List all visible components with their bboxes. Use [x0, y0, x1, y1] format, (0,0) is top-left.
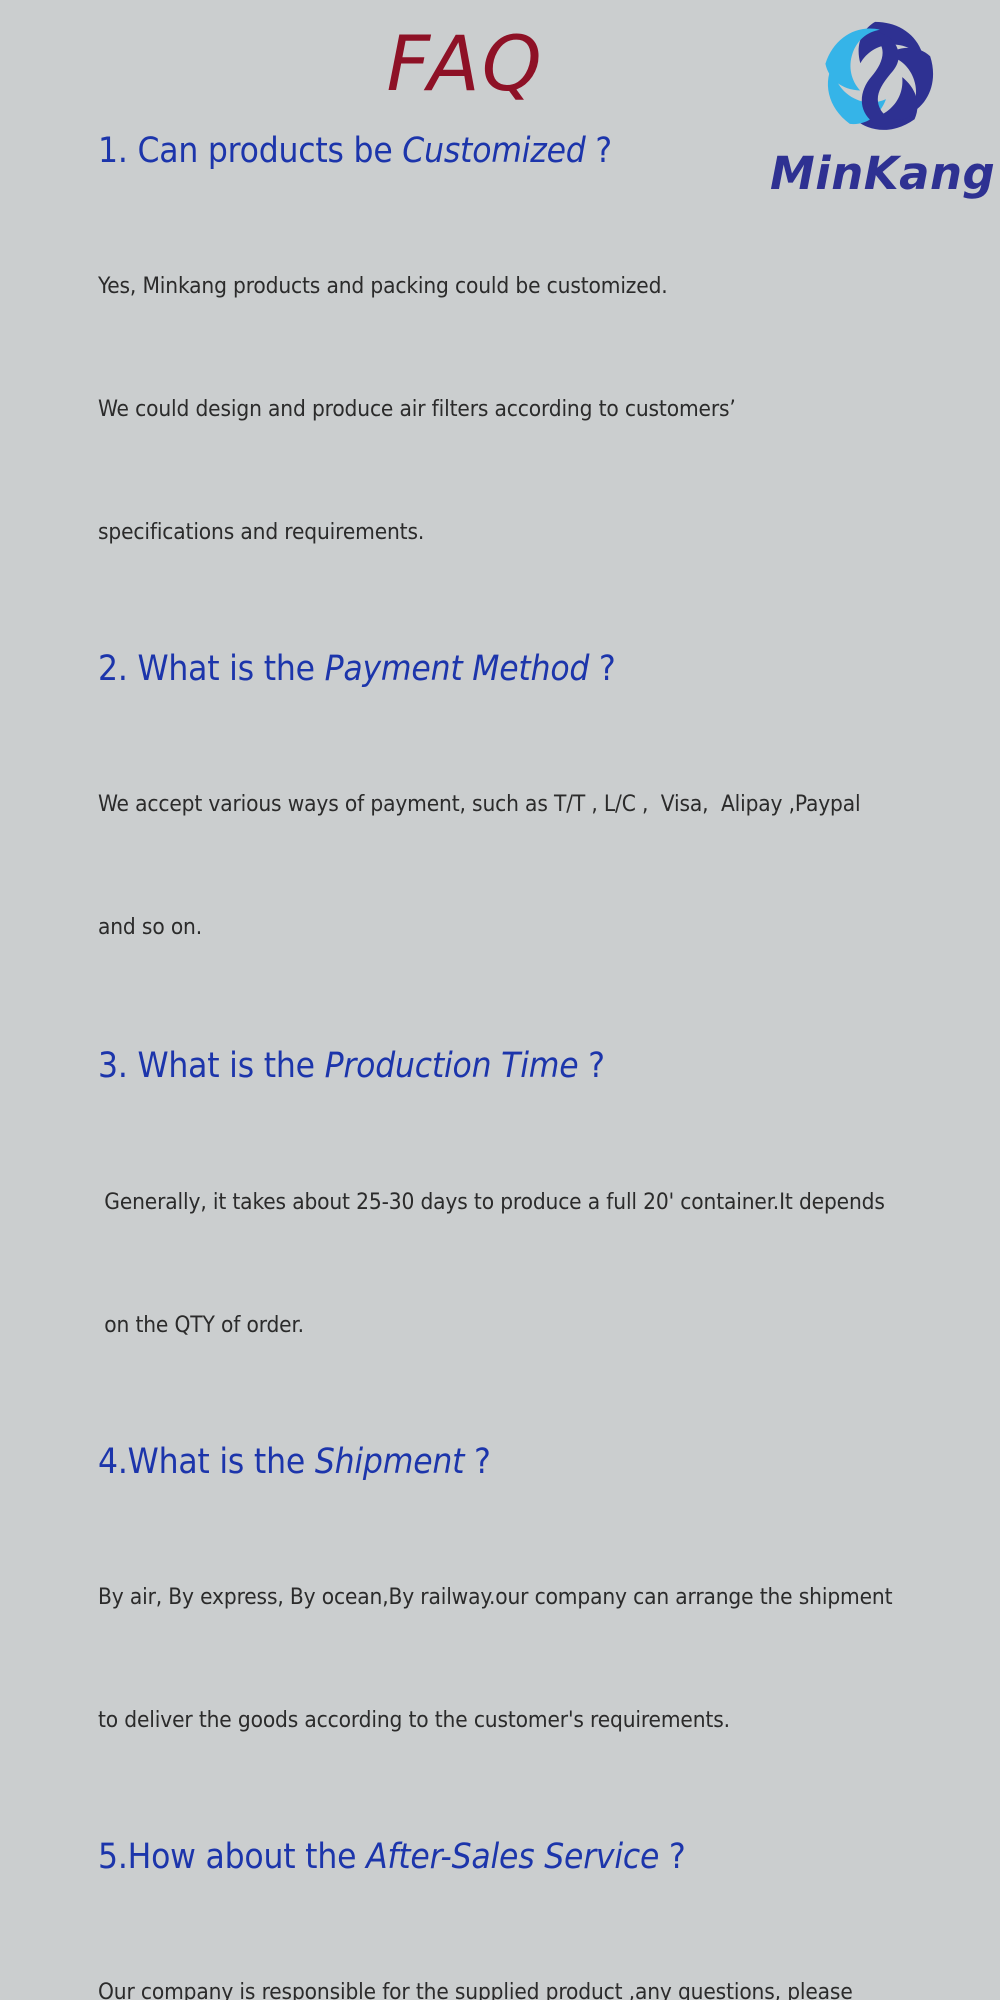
faq-item-2: 2. What is the Payment Method ? We accep… [98, 650, 982, 1030]
faq-question-5-number: 5. [98, 1837, 128, 1877]
faq-question-5: 5.How about the After-Sales Service ? [98, 1838, 982, 1877]
faq-answer-5: Our company is responsible for the suppl… [98, 1890, 982, 2000]
faq-answer-2-line-2: and so on. [98, 907, 982, 948]
faq-answer-1: Yes, Minkang products and packing could … [98, 184, 982, 635]
faq-question-2-lead: What is the [137, 649, 324, 689]
faq-question-2-emphasis: Payment Method [325, 649, 590, 689]
faq-answer-3: Generally, it takes about 25-30 days to … [98, 1100, 982, 1428]
faq-answer-1-line-1: Yes, Minkang products and packing could … [98, 266, 982, 307]
faq-question-3-tail: ? [578, 1046, 604, 1086]
faq-question-4-number: 4. [98, 1442, 128, 1482]
faq-question-5-lead: How about the [128, 1837, 366, 1877]
faq-question-3-lead: What is the [137, 1046, 324, 1086]
faq-answer-4-line-1: By air, By express, By ocean,By railway.… [98, 1577, 982, 1618]
faq-question-4-tail: ? [464, 1442, 490, 1482]
faq-question-5-emphasis: After-Sales Service [366, 1837, 659, 1877]
faq-list: 1. Can products be Customized ? Yes, Min… [98, 132, 982, 2000]
faq-answer-4-line-2: to deliver the goods according to the cu… [98, 1700, 982, 1741]
faq-answer-1-line-2: We could design and produce air filters … [98, 389, 982, 430]
faq-answer-2-line-1: We accept various ways of payment, such … [98, 784, 982, 825]
faq-question-1: 1. Can products be Customized ? [98, 132, 982, 171]
faq-item-3: 3. What is the Production Time ? General… [98, 1047, 982, 1427]
faq-answer-5-line-1: Our company is responsible for the suppl… [98, 1972, 982, 2000]
faq-question-2-number: 2. [98, 649, 137, 689]
faq-question-4: 4.What is the Shipment ? [98, 1443, 982, 1482]
faq-answer-1-line-3: specifications and requirements. [98, 512, 982, 553]
faq-answer-3-line-1: Generally, it takes about 25-30 days to … [98, 1182, 982, 1223]
faq-question-4-lead: What is the [128, 1442, 315, 1482]
faq-question-3: 3. What is the Production Time ? [98, 1047, 982, 1086]
faq-answer-2: We accept various ways of payment, such … [98, 702, 982, 1030]
faq-question-4-emphasis: Shipment [315, 1442, 464, 1482]
faq-question-3-emphasis: Production Time [325, 1046, 579, 1086]
faq-question-1-tail: ? [586, 131, 612, 171]
faq-item-1: 1. Can products be Customized ? Yes, Min… [98, 132, 982, 635]
faq-question-5-tail: ? [659, 1837, 685, 1877]
minkang-swirl-logo-icon [820, 16, 938, 138]
faq-item-5: 5.How about the After-Sales Service ? Ou… [98, 1838, 982, 2000]
faq-question-1-emphasis: Customized [402, 131, 585, 171]
faq-question-1-number: 1. [98, 131, 137, 171]
faq-question-2: 2. What is the Payment Method ? [98, 650, 982, 689]
faq-question-2-tail: ? [589, 649, 615, 689]
faq-answer-3-line-2: on the QTY of order. [98, 1305, 982, 1346]
faq-answer-4: By air, By express, By ocean,By railway.… [98, 1495, 982, 1823]
faq-item-4: 4.What is the Shipment ? By air, By expr… [98, 1443, 982, 1823]
faq-page: FAQ [0, 0, 1000, 1000]
faq-question-3-number: 3. [98, 1046, 137, 1086]
faq-question-1-lead: Can products be [137, 131, 402, 171]
